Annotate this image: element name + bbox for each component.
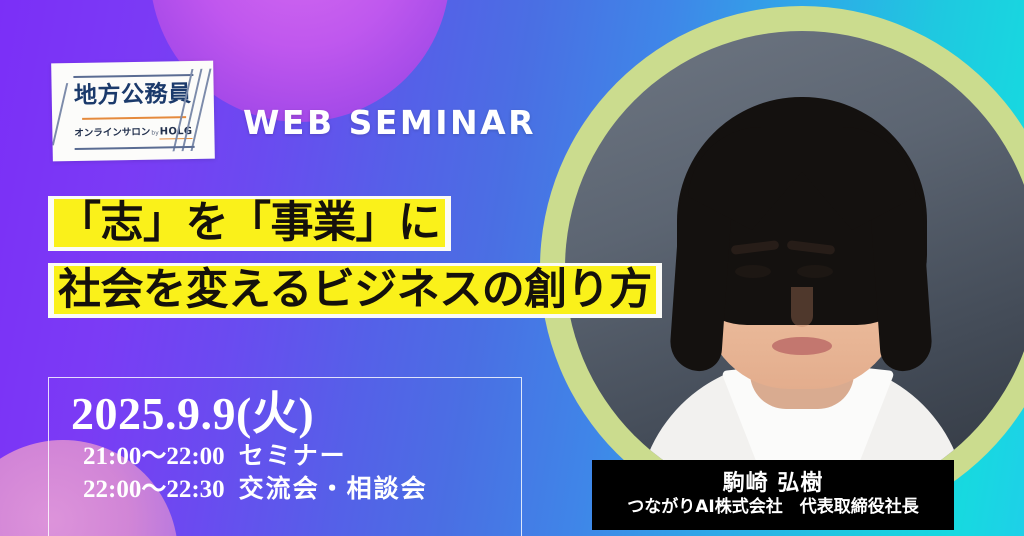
- speaker-title: つながりAI株式会社 代表取締役社長: [627, 497, 918, 518]
- logo-by-label: by: [151, 130, 158, 137]
- event-date: 2025.9.9(火): [49, 388, 521, 440]
- portrait-eye-right: [797, 265, 833, 278]
- logo-sub-label: オンラインサロン: [74, 127, 150, 139]
- portrait-mouth: [772, 337, 832, 355]
- headline-block: 「志」を「事業」に 社会を変えるビジネスの創り方: [48, 196, 662, 330]
- schedule-box: 2025.9.9(火) 21:00～22:00セミナー 22:00～22:30交…: [48, 377, 522, 536]
- logo-slashes-right: [171, 69, 206, 152]
- schedule-row-1-time: 21:00～22:00: [83, 443, 225, 470]
- schedule-row-1: 21:00～22:00セミナー: [49, 440, 521, 473]
- headline-line-2-text: 社会を変えるビジネスの創り方: [54, 266, 656, 314]
- holg-logo-card: 地方公務員 オンラインサロンbyHOLG: [51, 61, 215, 162]
- speaker-name-plate: 駒崎 弘樹 つながりAI株式会社 代表取締役社長: [592, 460, 954, 530]
- logo-divider: [82, 116, 186, 120]
- schedule-row-1-label: セミナー: [239, 443, 347, 470]
- headline-line-1: 「志」を「事業」に: [48, 196, 451, 251]
- schedule-row-2-time: 22:00～22:30: [83, 476, 225, 503]
- web-seminar-label: WEB SEMINAR: [243, 103, 536, 142]
- speaker-name: 駒崎 弘樹: [723, 471, 824, 497]
- webinar-banner: 地方公務員 オンラインサロンbyHOLG WEB SEMINAR 「志」を「事業…: [0, 0, 1024, 536]
- schedule-row-2-label: 交流会・相談会: [239, 476, 428, 503]
- schedule-row-2: 22:00～22:30交流会・相談会: [49, 473, 521, 506]
- headline-line-2: 社会を変えるビジネスの創り方: [48, 263, 662, 318]
- headline-line-1-text: 「志」を「事業」に: [54, 199, 445, 247]
- portrait-nose: [791, 287, 813, 327]
- portrait-eye-left: [735, 265, 771, 278]
